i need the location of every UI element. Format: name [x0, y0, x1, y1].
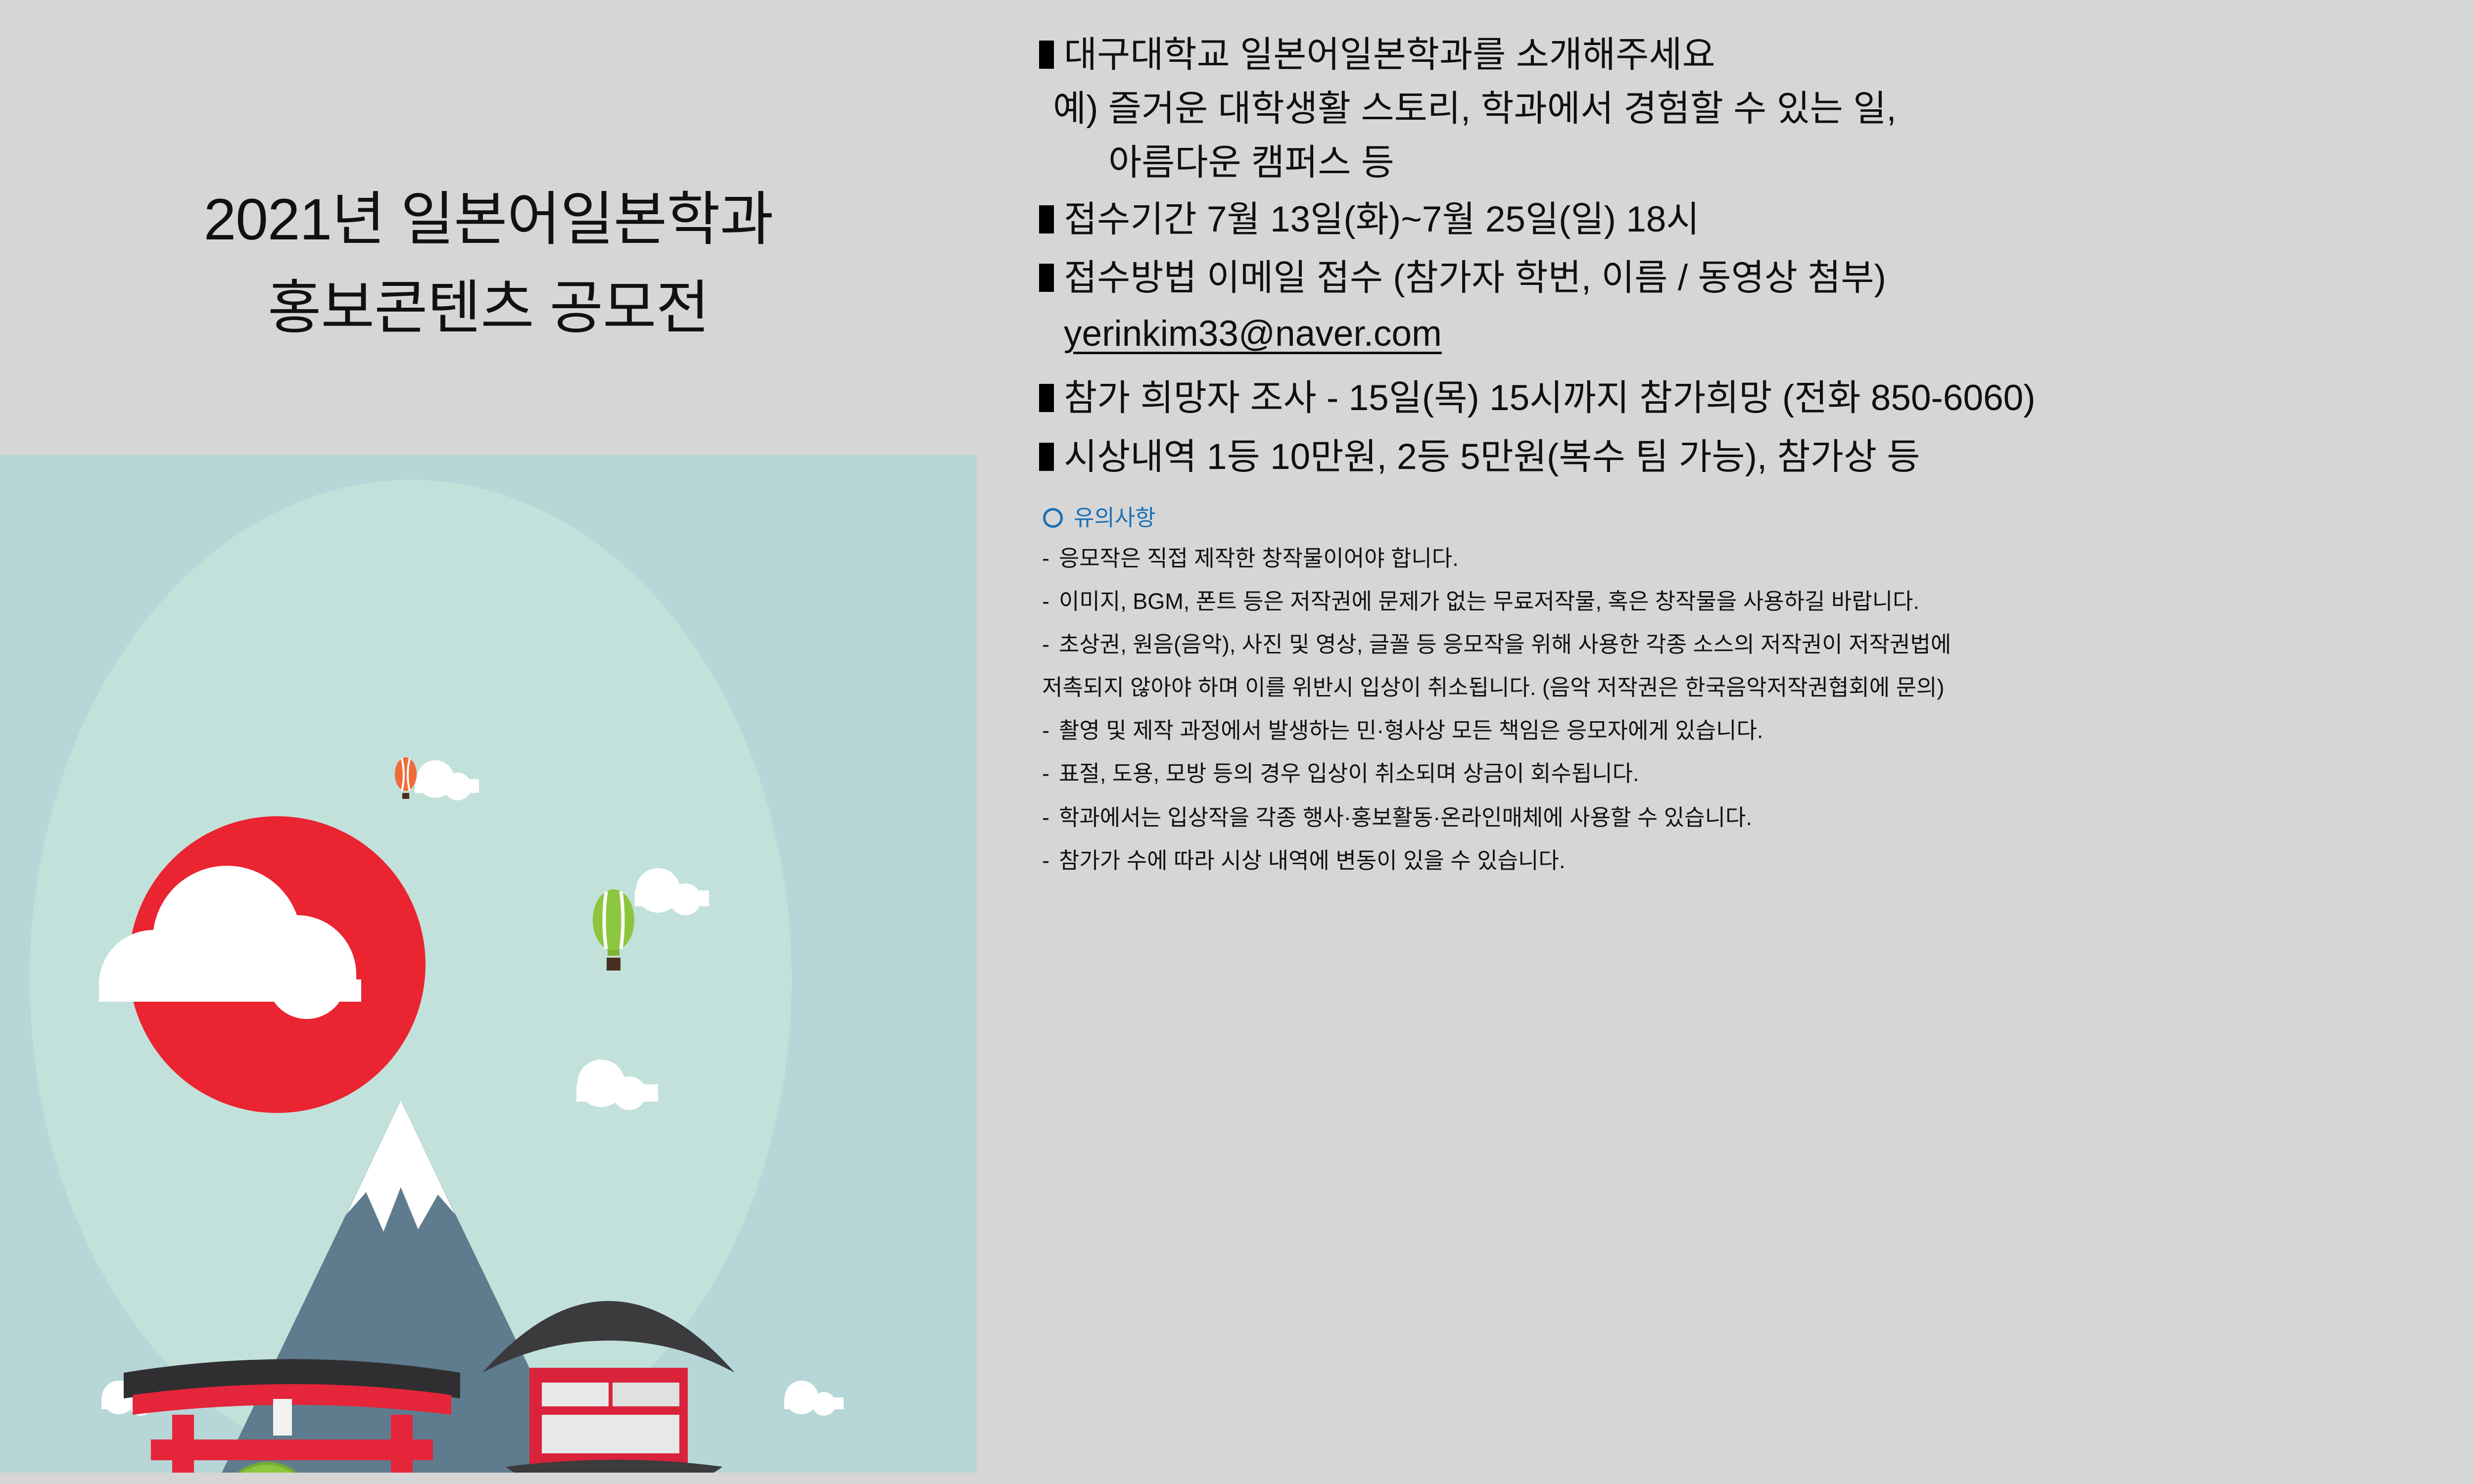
notice-heading-label: 유의사항: [1074, 507, 1156, 529]
notice-item-text: 표절, 도용, 모방 등의 경우 입상이 취소되며 상금이 회수됩니다.: [1059, 762, 1639, 785]
square-bullet-icon: [1039, 384, 1054, 412]
notice-item-text: 학과에서는 입상작을 각종 행사·홍보활동·온라인매체에 사용할 수 있습니다.: [1059, 806, 1752, 829]
torii-gate-icon: [124, 1359, 460, 1473]
notice-item-text: 참가가 수에 따라 시상 내역에 변동이 있을 수 있습니다.: [1059, 849, 1565, 872]
japan-landmark-illustration: [0, 455, 977, 1473]
submission-email-link[interactable]: yerinkim33@naver.com: [1064, 316, 1442, 352]
notice-item: - 초상권, 원음(음악), 사진 및 영상, 글꼴 등 응모작을 위해 사용한…: [1042, 633, 1951, 655]
content-item-example-line2: 아름다운 캠퍼스 등: [1108, 144, 1394, 181]
poster-content-column: 대구대학교 일본어일본학과를 소개해주세요 예) 즐거운 대학생활 스토리, 학…: [1039, 0, 2474, 1484]
notice-item-continuation: 저촉되지 않아야 하며 이를 위반시 입상이 취소됩니다. (음악 저작권은 한…: [1042, 676, 1945, 698]
content-item-intro: 대구대학교 일본어일본학과를 소개해주세요: [1039, 37, 1715, 73]
notice-item: - 응모작은 직접 제작한 창작물이어야 합니다.: [1042, 547, 1459, 569]
dash-bullet-icon: -: [1042, 547, 1059, 569]
notice-item-text: 이미지, BGM, 폰트 등은 저작권에 문제가 없는 무료저작물, 혹은 창작…: [1059, 590, 1919, 612]
dash-bullet-icon: -: [1042, 762, 1059, 785]
title-line-2: 홍보콘텐츠 공모전: [0, 264, 977, 353]
illustration-panel: [0, 455, 977, 1473]
notice-item-text: 촬영 및 제작 과정에서 발생하는 민·형사상 모든 책임은 응모자에게 있습니…: [1059, 719, 1763, 742]
circle-bullet-icon: [1043, 508, 1063, 528]
notice-item: - 이미지, BGM, 폰트 등은 저작권에 문제가 없는 무료저작물, 혹은 …: [1042, 590, 1919, 612]
dash-bullet-icon: -: [1042, 590, 1059, 612]
notice-item: - 표절, 도용, 모방 등의 경우 입상이 취소되며 상금이 회수됩니다.: [1042, 762, 1639, 785]
content-item-text: 시상내역 1등 10만원, 2등 5만원(복수 팀 가능), 참가상 등: [1064, 439, 1920, 475]
content-item-survey: 참가 희망자 조사 - 15일(목) 15시까지 참가희망 (전화 850-60…: [1039, 380, 2036, 416]
content-item-period: 접수기간 7월 13일(화)~7월 25일(일) 18시: [1039, 201, 1700, 237]
content-item-text: 접수기간 7월 13일(화)~7월 25일(일) 18시: [1064, 201, 1700, 237]
content-item-example-line1: 예) 즐거운 대학생활 스토리, 학과에서 경험할 수 있는 일,: [1053, 91, 1897, 127]
poster-left-column: 2021년 일본어일본학과 홍보콘텐츠 공모전: [0, 0, 977, 1484]
notice-item-text: 응모작은 직접 제작한 창작물이어야 합니다.: [1059, 547, 1459, 569]
notice-item: - 촬영 및 제작 과정에서 발생하는 민·형사상 모든 책임은 응모자에게 있…: [1042, 719, 1763, 742]
content-item-method: 접수방법 이메일 접수 (참가자 학번, 이름 / 동영상 첨부): [1039, 260, 1886, 296]
dash-bullet-icon: -: [1042, 849, 1059, 872]
notice-heading: 유의사항: [1043, 507, 1156, 529]
dash-bullet-icon: -: [1042, 719, 1059, 742]
page-title: 2021년 일본어일본학과 홍보콘텐츠 공모전: [0, 176, 977, 353]
square-bullet-icon: [1039, 41, 1054, 69]
content-item-prizes: 시상내역 1등 10만원, 2등 5만원(복수 팀 가능), 참가상 등: [1039, 439, 1920, 475]
cloud-small-e-icon: [784, 1381, 844, 1416]
square-bullet-icon: [1039, 264, 1054, 292]
title-line-1: 2021년 일본어일본학과: [0, 176, 977, 264]
square-bullet-icon: [1039, 443, 1054, 471]
content-item-text: 접수방법 이메일 접수 (참가자 학번, 이름 / 동영상 첨부): [1064, 260, 1886, 296]
dash-bullet-icon: -: [1042, 633, 1059, 655]
notice-item: - 참가가 수에 따라 시상 내역에 변동이 있을 수 있습니다.: [1042, 849, 1565, 872]
dash-bullet-icon: -: [1042, 806, 1059, 829]
notice-item: - 학과에서는 입상작을 각종 행사·홍보활동·온라인매체에 사용할 수 있습니…: [1042, 806, 1752, 829]
square-bullet-icon: [1039, 205, 1054, 233]
content-item-text: 대구대학교 일본어일본학과를 소개해주세요: [1064, 37, 1715, 73]
notice-item-text: 초상권, 원음(음악), 사진 및 영상, 글꼴 등 응모작을 위해 사용한 각…: [1059, 633, 1951, 655]
content-item-text: 참가 희망자 조사 - 15일(목) 15시까지 참가희망 (전화 850-60…: [1064, 380, 2036, 416]
